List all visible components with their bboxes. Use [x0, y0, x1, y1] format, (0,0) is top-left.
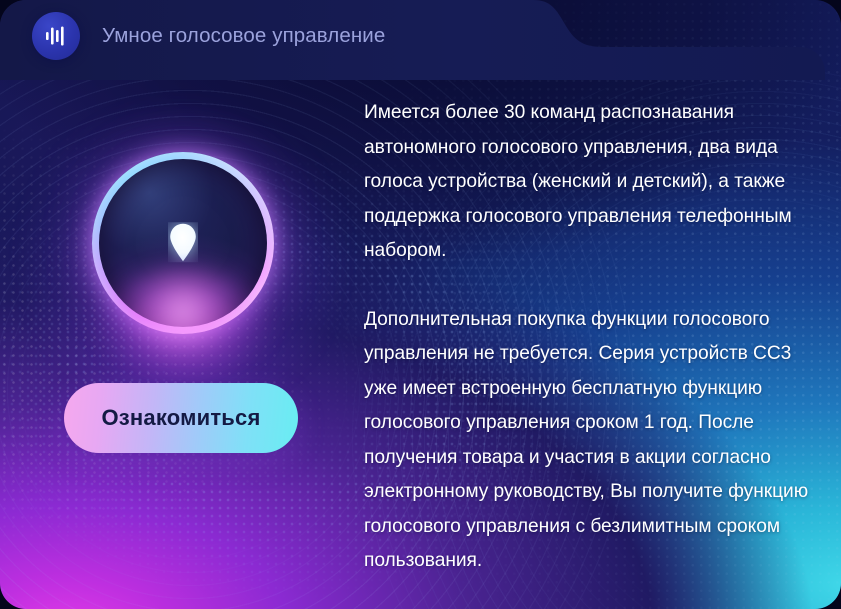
description-paragraph-1: Имеется более 30 команд распознавания ав…	[364, 96, 816, 269]
orb-bottom-glow	[98, 270, 268, 390]
learn-more-button-label: Ознакомиться	[101, 405, 260, 431]
voice-waveform-icon	[32, 12, 80, 60]
learn-more-button[interactable]: Ознакомиться	[64, 383, 298, 453]
page-title: Умное голосовое управление	[102, 24, 385, 48]
voice-assistant-orb	[92, 152, 274, 334]
description-paragraph-2: Дополнительная покупка функции голосовог…	[364, 303, 816, 579]
description-panel: Имеется более 30 команд распознавания ав…	[364, 96, 816, 579]
header-bar: Умное голосовое управление	[0, 0, 841, 72]
waveform-bars-icon	[44, 25, 68, 47]
location-pin-icon	[168, 222, 198, 262]
promo-card: Умное голосовое управление	[0, 0, 841, 609]
